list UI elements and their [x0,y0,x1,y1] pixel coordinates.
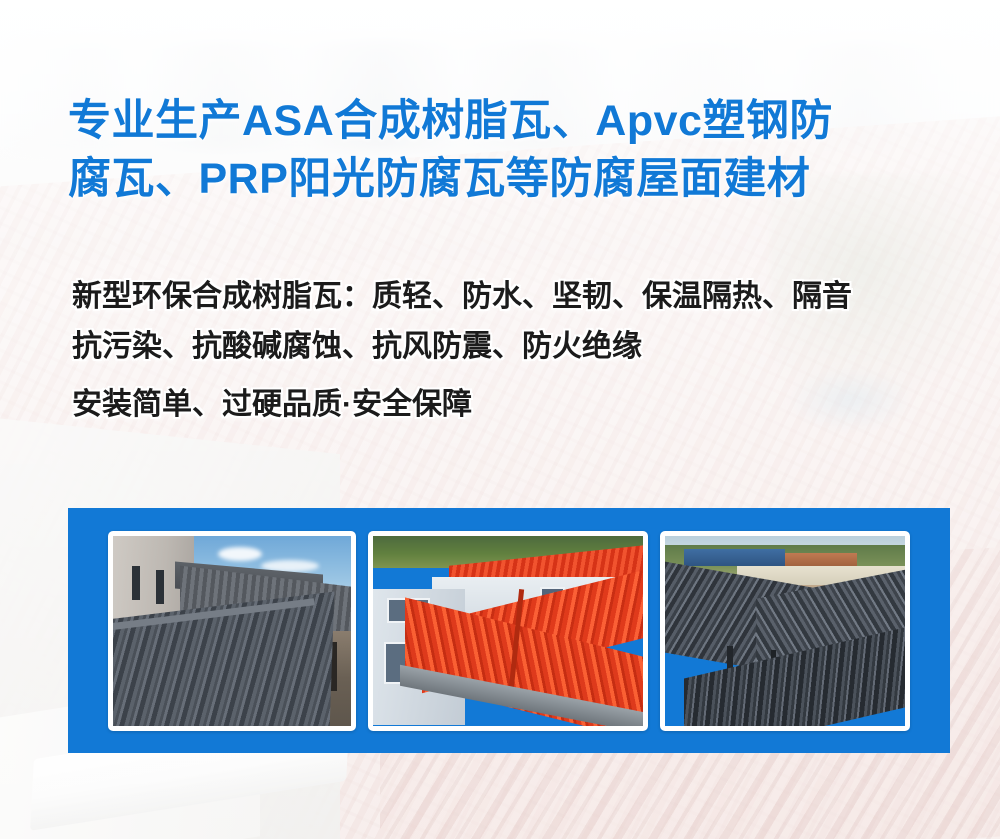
photo-gallery-panel [68,508,950,753]
headline-line-2: 腐瓦、PRP阳光防腐瓦等防腐屋面建材 [68,150,948,208]
subtitle-line-1: 新型环保合成树脂瓦：质轻、防水、坚韧、保温隔热、隔音 [72,272,972,322]
photo1-window [132,566,140,600]
black-resin-tile-roof-photo[interactable] [660,531,910,731]
subtitle-line-2: 抗污染、抗酸碱腐蚀、抗风防震、防火绝缘 [72,322,972,372]
photo1-cloud-icon [218,547,262,561]
headline-line-1: 专业生产ASA合成树脂瓦、Apvc塑钢防 [68,97,833,145]
photo1-window [156,570,164,604]
subtitle-line-3: 安装简单、过硬品质·安全保障 [72,380,972,430]
dark-grey-resin-tile-roof-photo[interactable] [108,531,356,731]
banner-headline: 专业生产ASA合成树脂瓦、Apvc塑钢防 腐瓦、PRP阳光防腐瓦等防腐屋面建材 [68,92,948,208]
red-resin-tile-roof-photo[interactable] [368,531,648,731]
photo3-blue-building [684,549,785,566]
banner-subtitle: 新型环保合成树脂瓦：质轻、防水、坚韧、保温隔热、隔音 抗污染、抗酸碱腐蚀、抗风防… [72,272,972,430]
